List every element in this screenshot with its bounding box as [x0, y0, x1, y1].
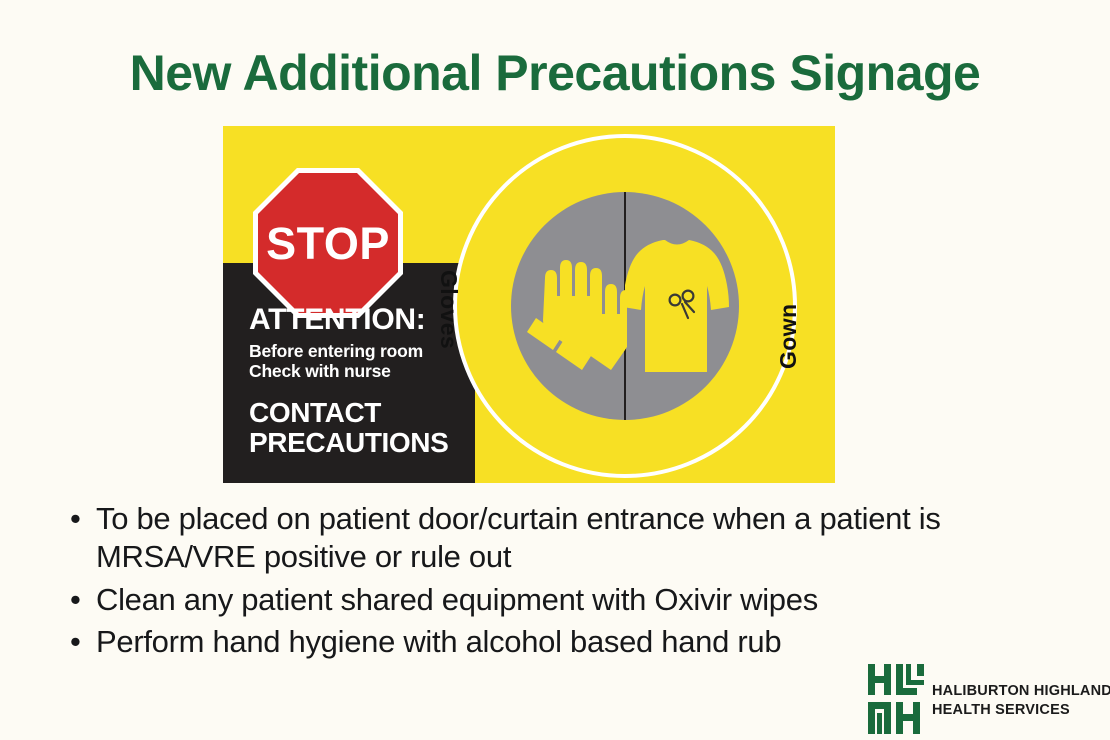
ppe-circle-graphic: Gloves Gown: [453, 134, 797, 478]
gown-icon: [625, 234, 729, 378]
organization-logo: HALIBURTON HIGHLANDS HEALTH SERVICES: [868, 664, 1083, 736]
logo-line-1: HALIBURTON HIGHLANDS: [932, 682, 1110, 701]
page-title: New Additional Precautions Signage: [0, 44, 1110, 102]
bullet-marker-icon: •: [70, 500, 81, 538]
hhh-monogram-icon: [868, 664, 924, 734]
list-item: • To be placed on patient door/curtain e…: [66, 500, 1086, 577]
ppe-label-gloves: Gloves: [435, 270, 462, 349]
bullet-marker-icon: •: [70, 581, 81, 619]
precaution-heading: CONTACT PRECAUTIONS: [249, 398, 479, 458]
logo-text: HALIBURTON HIGHLANDS HEALTH SERVICES: [932, 682, 1110, 719]
bullet-list: • To be placed on patient door/curtain e…: [66, 500, 1086, 666]
bullet-marker-icon: •: [70, 623, 81, 661]
ppe-label-gown: Gown: [775, 304, 802, 369]
precaution-line-contact: CONTACT: [249, 398, 479, 428]
list-item: • Perform hand hygiene with alcohol base…: [66, 623, 1086, 661]
gloves-icon: [519, 244, 627, 372]
stop-sign-icon: STOP: [253, 168, 403, 318]
list-item-text: Clean any patient shared equipment with …: [96, 582, 818, 617]
sign-subline-check-nurse: Check with nurse: [249, 361, 479, 382]
precautions-sign-image: STOP ATTENTION: Before entering room Che…: [223, 126, 835, 483]
list-item: • Clean any patient shared equipment wit…: [66, 581, 1086, 619]
list-item-text: Perform hand hygiene with alcohol based …: [96, 624, 781, 659]
stop-sign-label: STOP: [253, 168, 403, 318]
precaution-line-precautions: PRECAUTIONS: [249, 428, 479, 458]
ppe-inner-circle: [511, 192, 739, 420]
list-item-text: To be placed on patient door/curtain ent…: [96, 501, 941, 574]
logo-line-2: HEALTH SERVICES: [932, 701, 1110, 720]
